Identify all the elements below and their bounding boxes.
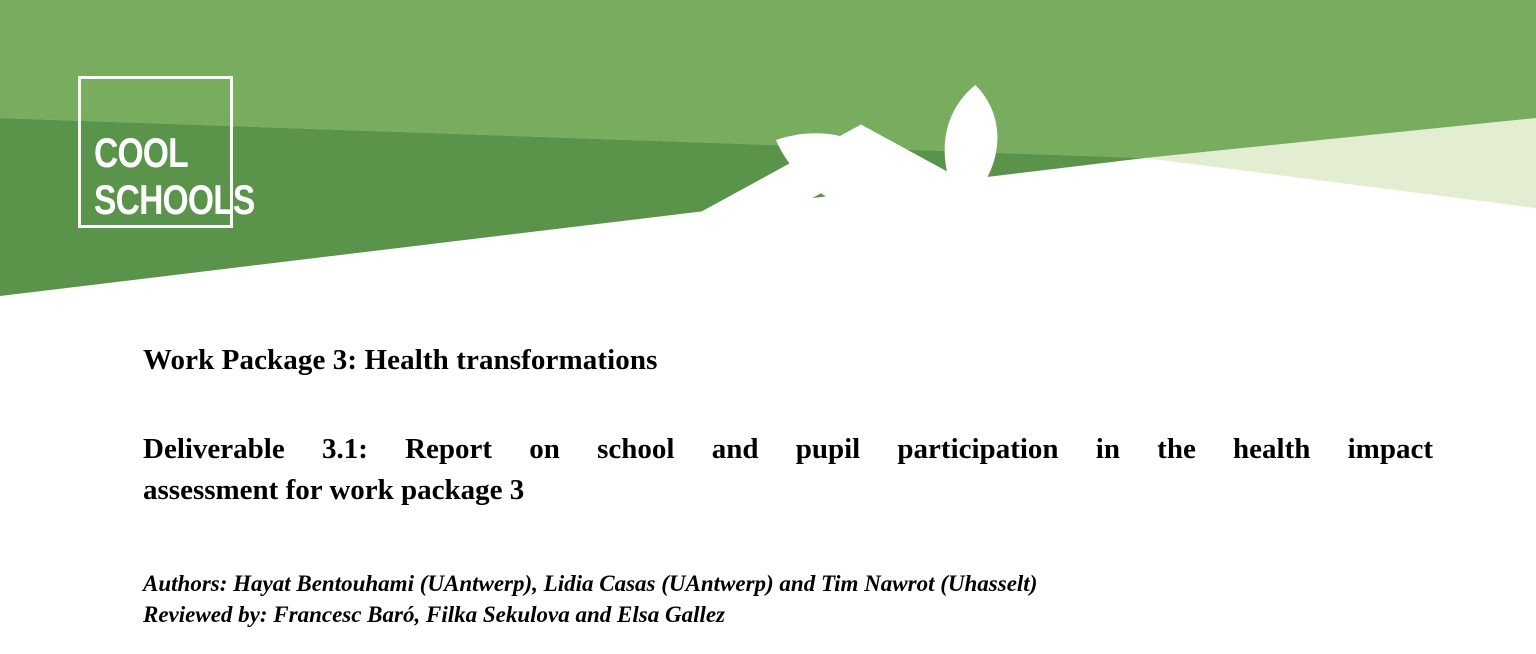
authors-line: Authors: Hayat Bentouhami (UAntwerp), Li…	[143, 569, 1433, 600]
reviewers-line: Reviewed by: Francesc Baró, Filka Sekulo…	[143, 600, 1433, 631]
leaf-sprout-icon	[173, 85, 1536, 330]
work-package-title: Work Package 3: Health transformations	[143, 344, 1433, 377]
header-banner: COOL SCHOOLS	[0, 0, 1536, 330]
logo-word-schools: SCHOOLS	[94, 179, 255, 221]
deliverable-title: Deliverable 3.1: Report on school and pu…	[143, 429, 1433, 511]
byline-block: Authors: Hayat Bentouhami (UAntwerp), Li…	[143, 569, 1433, 630]
deliverable-title-line-2: assessment for work package 3	[143, 470, 1433, 511]
logo-word-cool: COOL	[94, 132, 188, 174]
cool-schools-logo: COOL SCHOOLS	[78, 76, 233, 228]
deliverable-title-line-1: Deliverable 3.1: Report on school and pu…	[143, 429, 1433, 470]
document-body: Work Package 3: Health transformations D…	[143, 344, 1433, 631]
